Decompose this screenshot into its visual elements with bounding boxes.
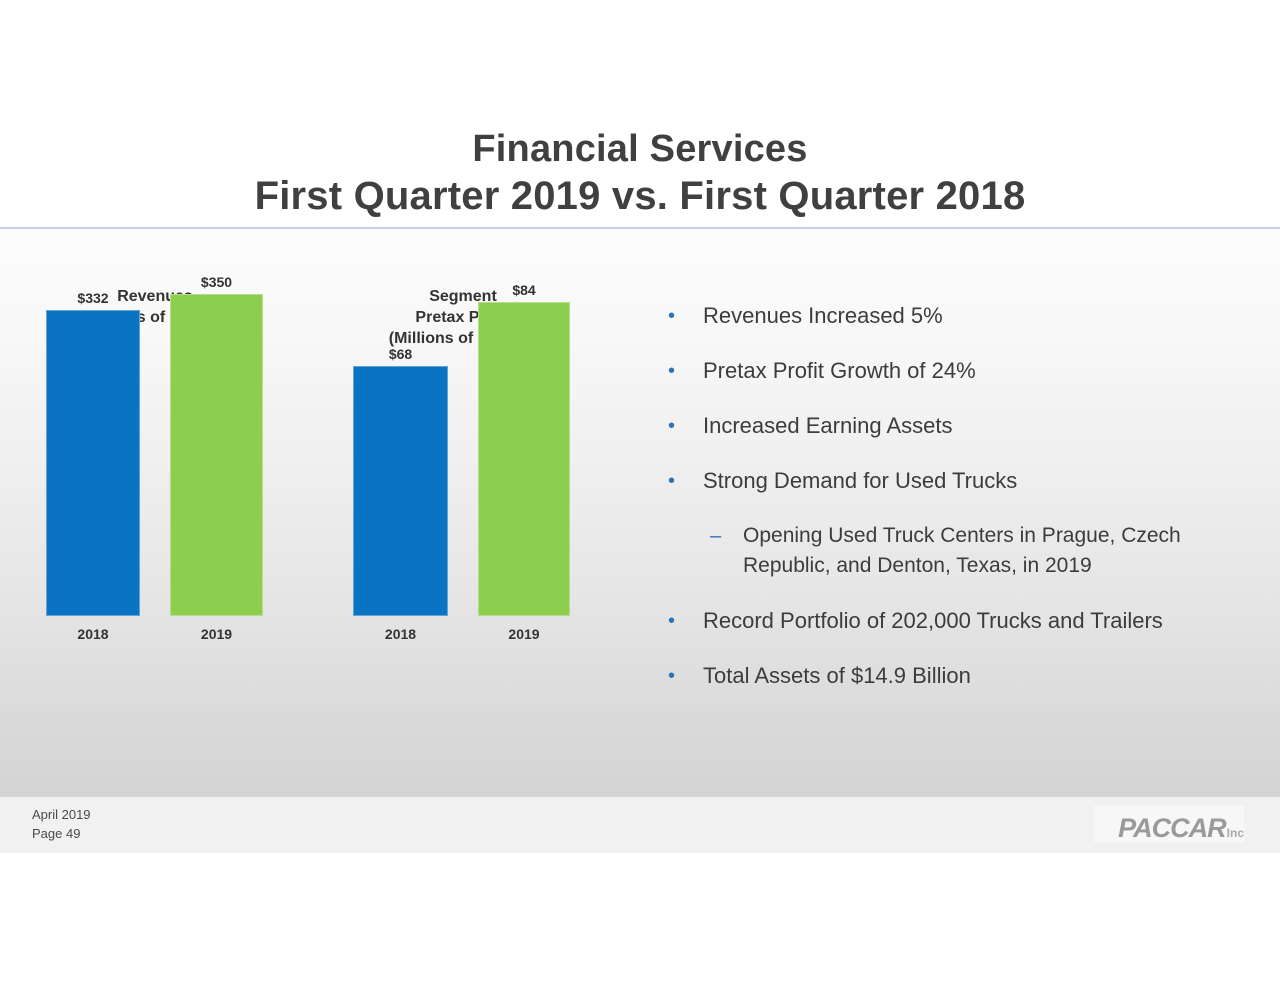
list-item: • Increased Earning Assets [668, 411, 1268, 441]
slide: Financial Services First Quarter 2019 vs… [0, 0, 1280, 853]
paccar-logo-wordmark: PACCAR [1118, 814, 1226, 842]
bullet-dot-icon: • [668, 301, 703, 331]
title-line-2: First Quarter 2019 vs. First Quarter 201… [0, 172, 1280, 220]
slide-title: Financial Services First Quarter 2019 vs… [0, 126, 1280, 227]
bullet-dot-icon: • [668, 606, 703, 636]
list-item-text: Strong Demand for Used Trucks [703, 466, 1268, 496]
list-item-text: Revenues Increased 5% [703, 301, 1268, 331]
list-item-text: Total Assets of $14.9 Billion [703, 661, 1268, 691]
title-line-1: Financial Services [0, 126, 1280, 172]
paccar-logo-inc: Inc [1227, 826, 1244, 841]
chart-revenues-plot: $332 2018 $350 2019 [0, 229, 310, 759]
list-item-sub: – Opening Used Truck Centers in Prague, … [668, 521, 1268, 581]
bar-group-pretax-2019: $84 2019 [478, 302, 570, 616]
paccar-logo: PACCAR Inc [1094, 806, 1244, 842]
bar-group-revenues-2018: $332 2018 [46, 310, 140, 616]
bar-pretax-2018[interactable] [353, 366, 448, 616]
list-item: • Total Assets of $14.9 Billion [668, 661, 1268, 691]
footer-date: April 2019 [32, 805, 91, 824]
list-item: • Pretax Profit Growth of 24% [668, 356, 1268, 386]
list-item-text: Increased Earning Assets [703, 411, 1268, 441]
footer-page-number: Page 49 [32, 824, 91, 843]
list-item-text: Record Portfolio of 202,000 Trucks and T… [703, 606, 1268, 636]
highlights-list: • Revenues Increased 5% • Pretax Profit … [668, 301, 1268, 716]
bullet-dot-icon: • [668, 466, 703, 496]
bar-value-pretax-2019: $84 [444, 282, 604, 298]
bullet-dot-icon: • [668, 356, 703, 386]
bar-value-pretax-2018: $68 [321, 346, 481, 362]
list-item: • Record Portfolio of 202,000 Trucks and… [668, 606, 1268, 636]
bar-category-revenues-2019: 2019 [137, 626, 297, 642]
list-item-sub-text: Opening Used Truck Centers in Prague, Cz… [743, 521, 1268, 581]
list-item-text: Pretax Profit Growth of 24% [703, 356, 1268, 386]
chart-pretax-profit-plot: $68 2018 $84 2019 [308, 229, 618, 759]
slide-body: Revenues (Millions of Dollars) $332 2018… [0, 229, 1280, 797]
bar-category-pretax-2019: 2019 [444, 626, 604, 642]
footer-meta: April 2019 Page 49 [32, 805, 91, 843]
bullet-dash-icon: – [710, 521, 743, 551]
bar-revenues-2019[interactable] [170, 294, 263, 616]
bullet-dot-icon: • [668, 661, 703, 691]
bullet-dot-icon: • [668, 411, 703, 441]
bar-pretax-2019[interactable] [478, 302, 570, 616]
list-item: • Strong Demand for Used Trucks [668, 466, 1268, 496]
bar-group-pretax-2018: $68 2018 [353, 366, 448, 616]
bar-value-revenues-2019: $350 [137, 274, 297, 290]
bar-value-revenues-2018: $332 [13, 290, 173, 306]
bar-revenues-2018[interactable] [46, 310, 140, 616]
bar-group-revenues-2019: $350 2019 [170, 294, 263, 616]
list-item: • Revenues Increased 5% [668, 301, 1268, 331]
slide-footer: April 2019 Page 49 PACCAR Inc [0, 797, 1280, 853]
